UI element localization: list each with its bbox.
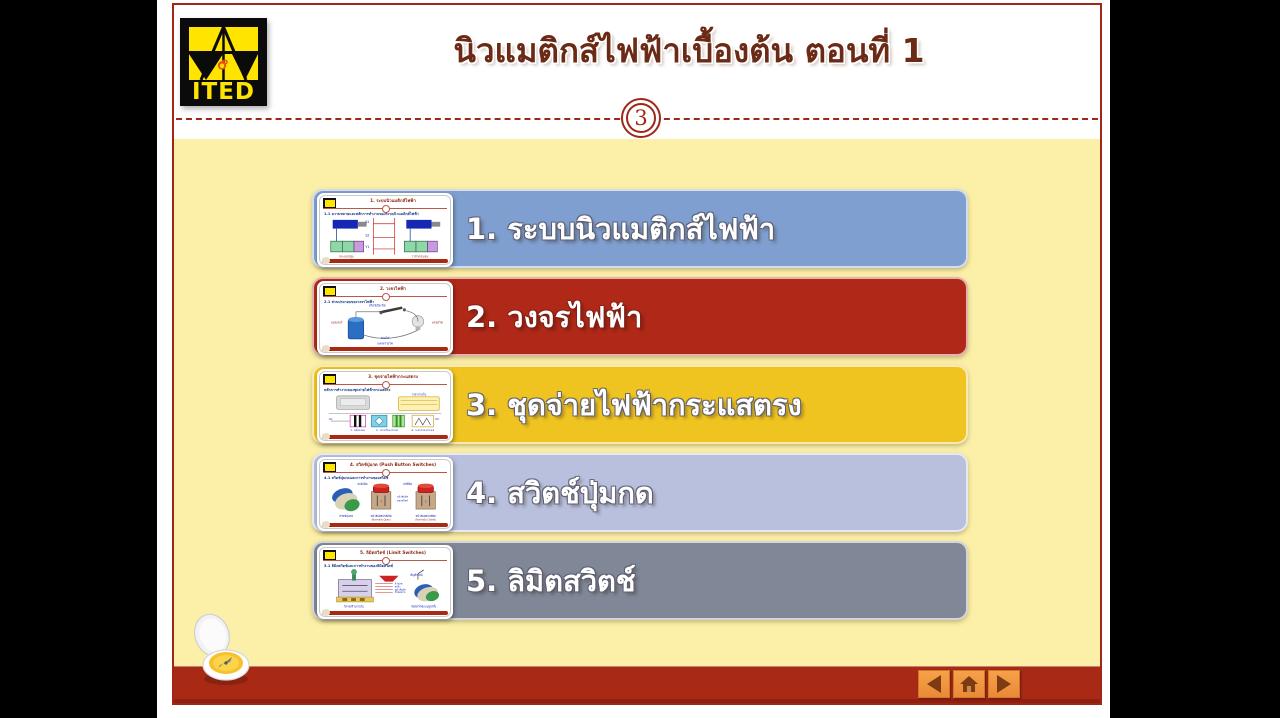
- menu-list: 1. ระบบนิวแมติกส์ไฟฟ้า 1.1 ความหมายและหล…: [312, 189, 968, 629]
- menu-item-label-3: 3. ชุดจ่ายไฟฟ้ากระแสตรง: [466, 388, 802, 422]
- menu-item-label-4: 4. สวิตช์ปุ่มกด: [466, 476, 654, 510]
- menu-item-2[interactable]: 2. วงจรไฟฟ้า 2.1 ส่วนประกอบของวงจรไฟฟ้า: [312, 277, 968, 356]
- menu-thumbnail-4[interactable]: 4. สวิตช์ปุ่มกด (Push Button Switches) 4…: [317, 457, 453, 531]
- thumb-logo-icon: [323, 550, 336, 560]
- screen: ITED นิวแมติกส์ไฟฟ้าเบื้องต้น ตอนที่ 1 3…: [0, 0, 1280, 718]
- thumb-logo-icon: [323, 462, 336, 472]
- logo-flame-icon: [217, 58, 229, 71]
- thumb-compass-icon: [322, 609, 330, 616]
- home-icon: [959, 675, 979, 693]
- thumb-footer: [322, 523, 448, 527]
- logo-hook: [222, 22, 225, 32]
- triangle-right-icon: [997, 675, 1011, 693]
- thumb-footer: [322, 347, 448, 351]
- svg-text:(Normally Open): (Normally Open): [372, 519, 391, 522]
- menu-thumbnail-1[interactable]: 1. ระบบนิวแมติกส์ไฟฟ้า 1.1 ความหมายและหล…: [317, 193, 453, 267]
- svg-text:ปกติปิด: ปกติปิด: [403, 482, 412, 486]
- svg-text:(Normally Closed): (Normally Closed): [415, 519, 436, 522]
- slide-footer: [174, 666, 1100, 703]
- svg-text:หลอดไฟ: หลอดไฟ: [432, 320, 443, 324]
- thumb-diagram-pneumatic: S1 S2 Y1 กระบอกสูบ วาล์วควบคุม: [323, 216, 447, 259]
- thumb-logo-icon: [323, 198, 336, 208]
- svg-text:โครงสร้างภายใน: โครงสร้างภายใน: [344, 605, 364, 609]
- svg-text:S1: S1: [365, 220, 369, 224]
- thumb-footer: [322, 435, 448, 439]
- thumb-diagram-dc-supply: วงจรภายใน: [323, 392, 447, 435]
- svg-text:สัญลักษณ์: สัญลักษณ์: [410, 573, 423, 577]
- svg-text:สายไฟ: สายไฟ: [381, 336, 390, 340]
- menu-item-label-2: 2. วงจรไฟฟ้า: [466, 300, 642, 334]
- menu-item-1[interactable]: 1. ระบบนิวแมติกส์ไฟฟ้า 1.1 ความหมายและหล…: [312, 189, 968, 268]
- svg-text:สวิตช์เปิด-ปิด: สวิตช์เปิด-ปิด: [369, 304, 386, 307]
- menu-item-label-5: 5. ลิมิตสวิตช์: [466, 564, 636, 598]
- thumb-logo-icon: [323, 374, 336, 384]
- svg-text:ค. วงจรกรองกระแส: ค. วงจรกรองกระแส: [412, 428, 435, 432]
- menu-item-3[interactable]: 3. ชุดจ่ายไฟฟ้ากระแสตรง หลักการทำงานของช…: [312, 365, 968, 444]
- compass-icon: [192, 613, 260, 687]
- page-number-badge: 3: [621, 98, 661, 138]
- next-button[interactable]: [988, 670, 1020, 698]
- svg-text:Y1: Y1: [365, 245, 369, 249]
- svg-text:ขั้วต่อสาย: ขั้วต่อสาย: [395, 590, 406, 594]
- thumb-diagram-push-buttons: 1 2 ปกติเปิด ปกติปิด หน้าสัมผัส ของสวิตช…: [323, 480, 447, 523]
- previous-button[interactable]: [918, 670, 950, 698]
- thumb-logo-icon: [323, 286, 336, 296]
- svg-text:วงจรภายใน: วงจรภายใน: [411, 392, 426, 396]
- thumb-footer: [322, 259, 448, 263]
- thumb-title: 4. สวิตช์ปุ่มกด (Push Button Switches): [339, 461, 447, 468]
- svg-text:2: 2: [425, 499, 427, 503]
- svg-text:แหล่งจ่ายไฟ: แหล่งจ่ายไฟ: [377, 342, 392, 346]
- svg-text:ข. วงจรเรียงกระแส: ข. วงจรเรียงกระแส: [376, 428, 398, 432]
- svg-text:ปกติเปิด: ปกติเปิด: [357, 482, 367, 486]
- ited-logo: ITED: [180, 18, 267, 106]
- triangle-left-icon: [927, 675, 941, 693]
- svg-text:หน้าสัมผัส: หน้าสัมผัส: [397, 494, 408, 498]
- menu-thumbnail-3[interactable]: 3. ชุดจ่ายไฟฟ้ากระแสตรง หลักการทำงานของช…: [317, 369, 453, 443]
- thumb-compass-icon: [322, 345, 330, 352]
- thumb-compass-icon: [322, 433, 330, 440]
- svg-text:หน้าสัมผัสปกติเปิด: หน้าสัมผัสปกติเปิด: [370, 514, 392, 518]
- svg-text:DC: DC: [435, 417, 439, 421]
- navigation-buttons: [918, 670, 1020, 698]
- slide-header: ITED นิวแมติกส์ไฟฟ้าเบื้องต้น ตอนที่ 1 3: [174, 5, 1100, 139]
- logo-tripod-icon: [189, 27, 258, 80]
- menu-thumbnail-5[interactable]: 5. ลิมิตสวิตช์ (Limit Switches) 5.1 ลิมิ…: [317, 545, 453, 619]
- thumb-diagram-circuit: สวิตช์เปิด-ปิด แบตเตอรี่ หลอดไฟ สายไฟ แห…: [323, 304, 447, 347]
- svg-text:ลิมิตสวิตช์แบบลูกกลิ้ง: ลิมิตสวิตช์แบบลูกกลิ้ง: [411, 605, 437, 609]
- svg-text:AC: AC: [329, 417, 333, 421]
- thumb-compass-icon: [322, 521, 330, 528]
- svg-text:สวิตช์ปุ่มกด: สวิตช์ปุ่มกด: [339, 514, 353, 519]
- svg-text:หน้าสัมผัสปกติปิด: หน้าสัมผัสปกติปิด: [415, 514, 436, 518]
- thumb-page-badge: [382, 293, 390, 301]
- svg-text:1: 1: [380, 499, 382, 503]
- thumb-diagram-limit-switch: ก้านกด สปริง หน้าสัมผัส ขั้วต่อสาย สัญลั…: [323, 568, 447, 611]
- svg-text:ของสวิตช์: ของสวิตช์: [397, 498, 408, 502]
- slide: ITED นิวแมติกส์ไฟฟ้าเบื้องต้น ตอนที่ 1 3…: [172, 3, 1102, 705]
- page-number: 3: [623, 100, 659, 136]
- thumb-footer: [322, 611, 448, 615]
- home-button[interactable]: [953, 670, 985, 698]
- thumb-title: 5. ลิมิตสวิตช์ (Limit Switches): [339, 549, 447, 556]
- thumb-compass-icon: [322, 257, 330, 264]
- menu-item-label-1: 1. ระบบนิวแมติกส์ไฟฟ้า: [466, 212, 775, 246]
- thumb-title: 1. ระบบนิวแมติกส์ไฟฟ้า: [339, 197, 447, 204]
- svg-text:แบตเตอรี่: แบตเตอรี่: [331, 320, 343, 324]
- thumb-title: 2. วงจรไฟฟ้า: [339, 285, 447, 292]
- menu-thumbnail-2[interactable]: 2. วงจรไฟฟ้า 2.1 ส่วนประกอบของวงจรไฟฟ้า: [317, 281, 453, 355]
- menu-item-5[interactable]: 5. ลิมิตสวิตช์ (Limit Switches) 5.1 ลิมิ…: [312, 541, 968, 620]
- page-title: นิวแมติกส์ไฟฟ้าเบื้องต้น ตอนที่ 1: [284, 29, 1094, 73]
- svg-text:S2: S2: [365, 233, 369, 237]
- menu-item-4[interactable]: 4. สวิตช์ปุ่มกด (Push Button Switches) 4…: [312, 453, 968, 532]
- thumb-title: 3. ชุดจ่ายไฟฟ้ากระแสตรง: [339, 373, 447, 380]
- slide-body: 1. ระบบนิวแมติกส์ไฟฟ้า 1.1 ความหมายและหล…: [174, 139, 1100, 669]
- logo-text: ITED: [180, 80, 267, 104]
- svg-text:ก. หม้อแปลง: ก. หม้อแปลง: [351, 428, 366, 432]
